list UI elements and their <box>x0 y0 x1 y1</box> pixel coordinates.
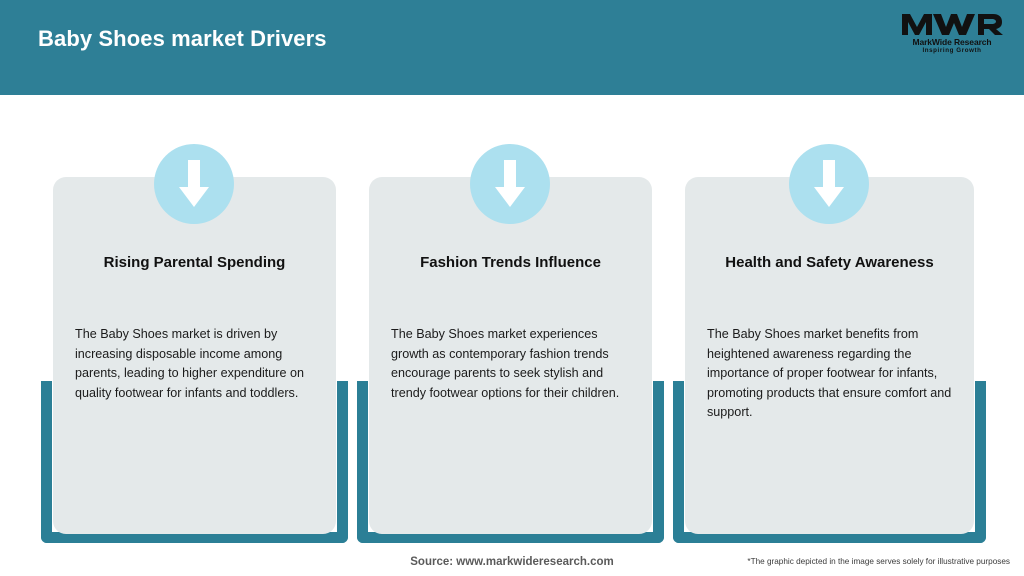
arrow-down-icon-circle-1 <box>154 144 234 224</box>
card-body-1: The Baby Shoes market is driven by incre… <box>75 325 318 403</box>
brand-logo: MarkWide Research Inspiring Growth <box>900 10 1004 62</box>
logo-tagline: Inspiring Growth <box>900 47 1004 55</box>
card-body-3: The Baby Shoes market benefits from heig… <box>707 325 956 423</box>
card-panel-3[interactable]: Health and Safety Awareness The Baby Sho… <box>685 177 974 534</box>
header-band: Baby Shoes market Drivers MarkWide Resea… <box>0 0 1024 95</box>
logo-company-name: MarkWide Research <box>900 37 1004 47</box>
slide-canvas: Baby Shoes market Drivers MarkWide Resea… <box>0 0 1024 576</box>
arrow-down-icon-circle-3 <box>789 144 869 224</box>
card-panel-2[interactable]: Fashion Trends Influence The Baby Shoes … <box>369 177 652 534</box>
arrow-down-icon-circle-2 <box>470 144 550 224</box>
page-title: Baby Shoes market Drivers <box>38 26 327 52</box>
card-body-2: The Baby Shoes market experiences growth… <box>391 325 634 403</box>
arrow-down-icon <box>812 158 846 210</box>
arrow-down-icon <box>177 158 211 210</box>
card-title-1: Rising Parental Spending <box>63 253 326 272</box>
mwr-logo-icon <box>900 10 1004 38</box>
card-panel-1[interactable]: Rising Parental Spending The Baby Shoes … <box>53 177 336 534</box>
card-title-3: Health and Safety Awareness <box>695 253 964 272</box>
disclaimer-note: *The graphic depicted in the image serve… <box>747 557 1010 566</box>
arrow-down-icon <box>493 158 527 210</box>
card-title-2: Fashion Trends Influence <box>379 253 642 272</box>
